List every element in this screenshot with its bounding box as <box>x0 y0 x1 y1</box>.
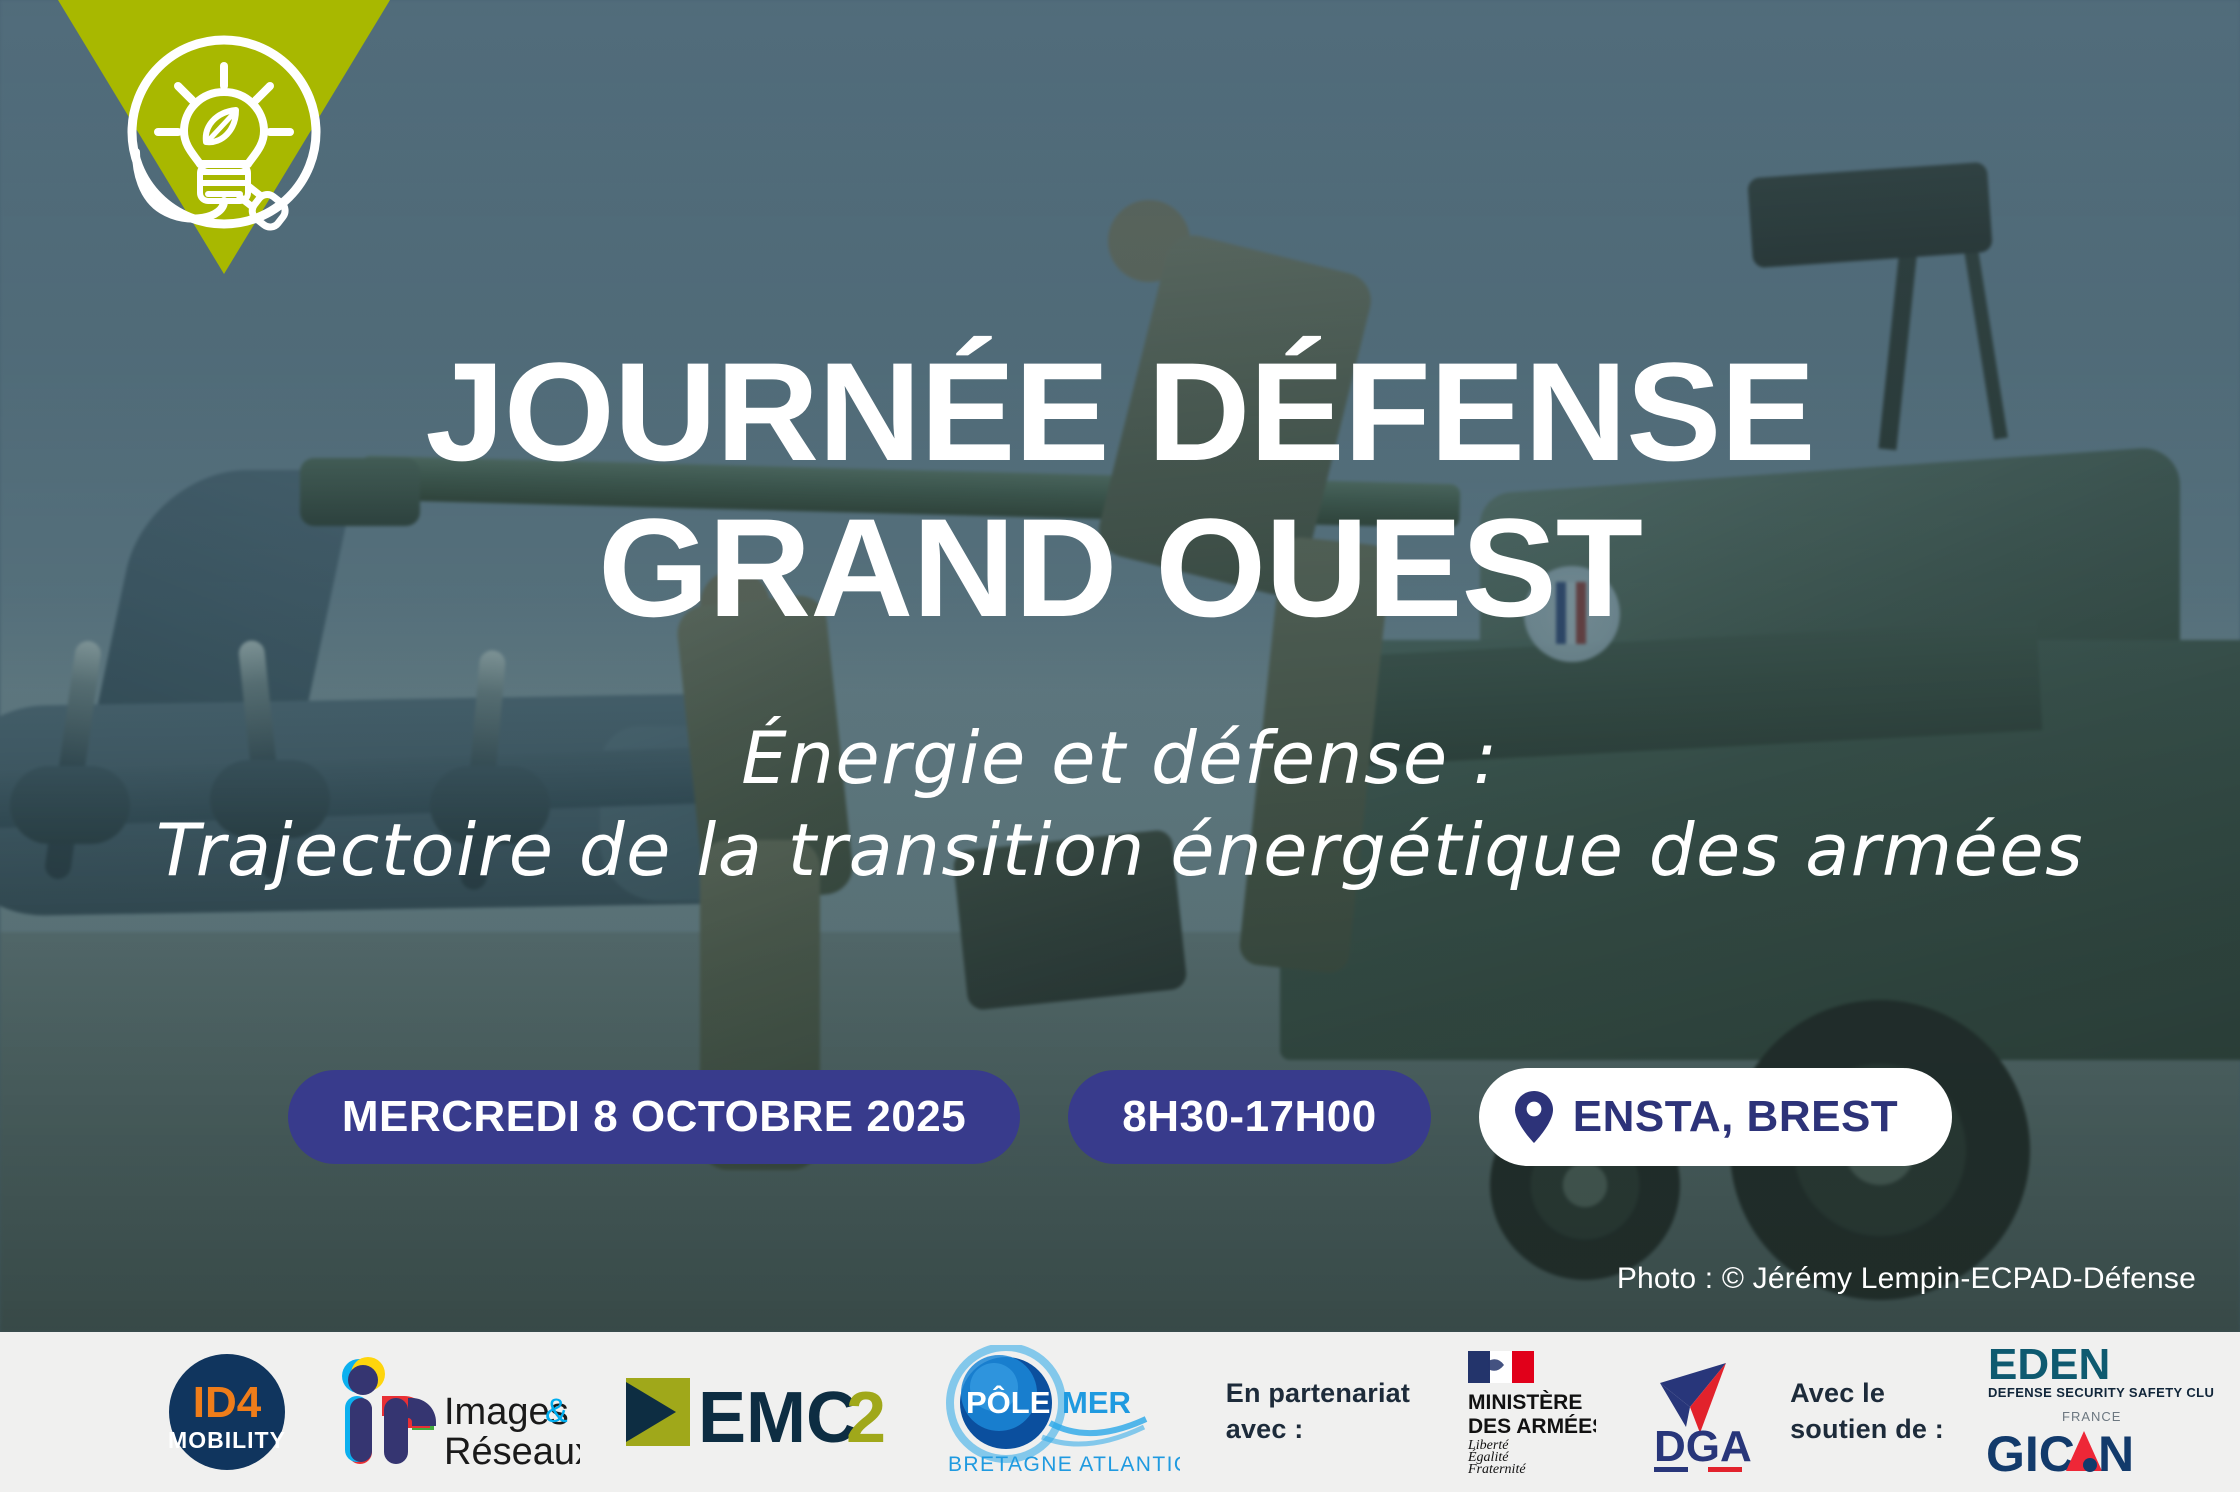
svg-text:N: N <box>2098 1426 2134 1482</box>
svg-text:EMC: EMC <box>698 1378 858 1456</box>
location-pin-icon <box>1513 1090 1555 1144</box>
title-line-1: JOURNÉE DÉFENSE <box>0 342 2240 482</box>
title-line-2: GRAND OUEST <box>0 498 2240 638</box>
svg-text:MER: MER <box>1062 1385 1131 1420</box>
logo-pole-mer: PÔLE MER BRETAGNE ATLANTIQUE <box>944 1345 1180 1479</box>
logo-eden-gican: EDEN DEFENSE SECURITY SAFETY CLUSTER FRA… <box>1978 1339 2214 1485</box>
partner-and-support-logos: En partenariat avec : MINISTÈRE DES ARMÉ… <box>1226 1339 2240 1485</box>
svg-text:2: 2 <box>846 1378 886 1456</box>
support-label-line-2: soutien de : <box>1790 1412 1944 1448</box>
event-date-label: MERCREDI 8 OCTOBRE 2025 <box>342 1092 966 1142</box>
logo-images-et-reseaux: Images & Réseaux <box>332 1350 580 1474</box>
organiser-logos: ID4 MOBILITY <box>0 1345 1180 1479</box>
svg-text:MINISTÈRE: MINISTÈRE <box>1468 1391 1582 1414</box>
svg-text:&: & <box>545 1392 568 1430</box>
svg-text:EDEN: EDEN <box>1988 1340 2110 1389</box>
logo-dga: DGA <box>1630 1349 1756 1475</box>
partnership-label-line-2: avec : <box>1226 1412 1410 1448</box>
svg-text:BRETAGNE ATLANTIQUE: BRETAGNE ATLANTIQUE <box>948 1453 1180 1476</box>
logo-emc2: EMC 2 <box>626 1368 898 1456</box>
svg-text:Fraternité: Fraternité <box>1467 1462 1526 1475</box>
svg-text:FRANCE: FRANCE <box>2062 1409 2121 1424</box>
partnership-label-line-1: En partenariat <box>1226 1376 1410 1412</box>
sponsor-footer: ID4 MOBILITY <box>0 1332 2240 1492</box>
event-info-pills: MERCREDI 8 OCTOBRE 2025 8H30-17H00 ENSTA… <box>0 1068 2240 1166</box>
event-time-pill: 8H30-17H00 <box>1068 1070 1431 1164</box>
svg-text:ID4: ID4 <box>193 1378 262 1427</box>
svg-text:DGA: DGA <box>1654 1422 1752 1471</box>
photo-credit: Photo : © Jérémy Lempin-ECPAD-Défense <box>1617 1262 2196 1296</box>
svg-text:Réseaux: Réseaux <box>444 1431 580 1473</box>
support-label: Avec le soutien de : <box>1790 1376 1944 1447</box>
support-label-line-1: Avec le <box>1790 1376 1944 1412</box>
event-location-label: ENSTA, BREST <box>1573 1092 1898 1142</box>
subtitle-line-2: Trajectoire de la transition énergétique… <box>0 804 2240 896</box>
logo-id4-mobility: ID4 MOBILITY <box>168 1353 286 1471</box>
logo-ministere-des-armees: MINISTÈRE DES ARMÉES Liberté Égalité Fra… <box>1444 1349 1596 1475</box>
event-poster: JOURNÉE DÉFENSE GRAND OUEST Énergie et d… <box>0 0 2240 1492</box>
event-time-label: 8H30-17H00 <box>1122 1092 1377 1142</box>
lightbulb-leaf-icon <box>58 0 390 296</box>
svg-text:DEFENSE SECURITY SAFETY CLUSTE: DEFENSE SECURITY SAFETY CLUSTER <box>1988 1385 2214 1400</box>
subtitle-line-1: Énergie et défense : <box>0 712 2240 804</box>
poster-subtitle: Énergie et défense : Trajectoire de la t… <box>0 712 2240 896</box>
partnership-label: En partenariat avec : <box>1226 1376 1410 1447</box>
svg-text:GIC: GIC <box>1986 1426 2075 1482</box>
poster-title: JOURNÉE DÉFENSE GRAND OUEST <box>0 342 2240 638</box>
svg-text:PÔLE: PÔLE <box>966 1384 1050 1420</box>
event-date-pill: MERCREDI 8 OCTOBRE 2025 <box>288 1070 1020 1164</box>
svg-text:MOBILITY: MOBILITY <box>168 1427 286 1453</box>
event-location-pill: ENSTA, BREST <box>1479 1068 1952 1166</box>
svg-text:DES ARMÉES: DES ARMÉES <box>1468 1415 1596 1438</box>
